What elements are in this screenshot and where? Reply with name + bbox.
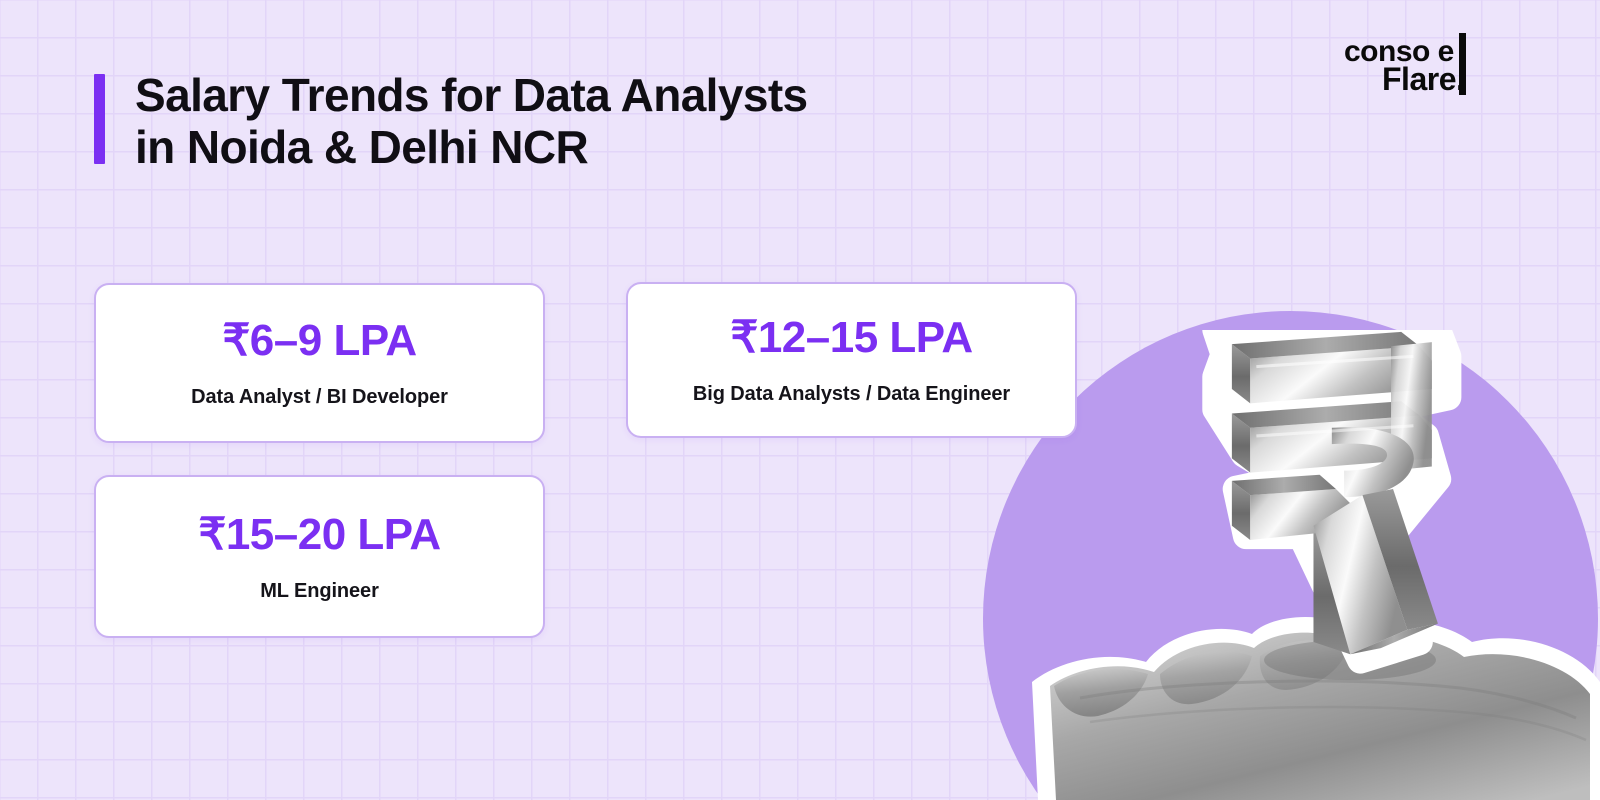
- salary-role: Data Analyst / BI Developer: [191, 387, 448, 407]
- salary-card: ₹6–9 LPA Data Analyst / BI Developer: [94, 283, 545, 443]
- salary-amount: ₹12–15 LPA: [730, 316, 972, 360]
- open-hand-graphic: [1032, 617, 1600, 800]
- salary-card: ₹15–20 LPA ML Engineer: [94, 475, 545, 638]
- salary-amount: ₹15–20 LPA: [198, 513, 440, 557]
- rupee-on-hand-illustration: [1020, 330, 1600, 800]
- header: Salary Trends for Data Analysts in Noida…: [94, 70, 808, 173]
- page-title: Salary Trends for Data Analysts in Noida…: [135, 70, 808, 173]
- title-accent-bar: [94, 74, 105, 164]
- salary-card: ₹12–15 LPA Big Data Analysts / Data Engi…: [626, 282, 1077, 438]
- rupee-symbol-3d: [1216, 330, 1449, 660]
- infographic-canvas: Salary Trends for Data Analysts in Noida…: [0, 0, 1600, 800]
- salary-role: ML Engineer: [260, 581, 379, 601]
- consoleflare-logo: conso e Flare.: [1344, 33, 1524, 99]
- salary-role: Big Data Analysts / Data Engineer: [693, 384, 1010, 404]
- salary-amount: ₹6–9 LPA: [222, 319, 416, 363]
- logo-text-flare: Flare.: [1382, 63, 1464, 95]
